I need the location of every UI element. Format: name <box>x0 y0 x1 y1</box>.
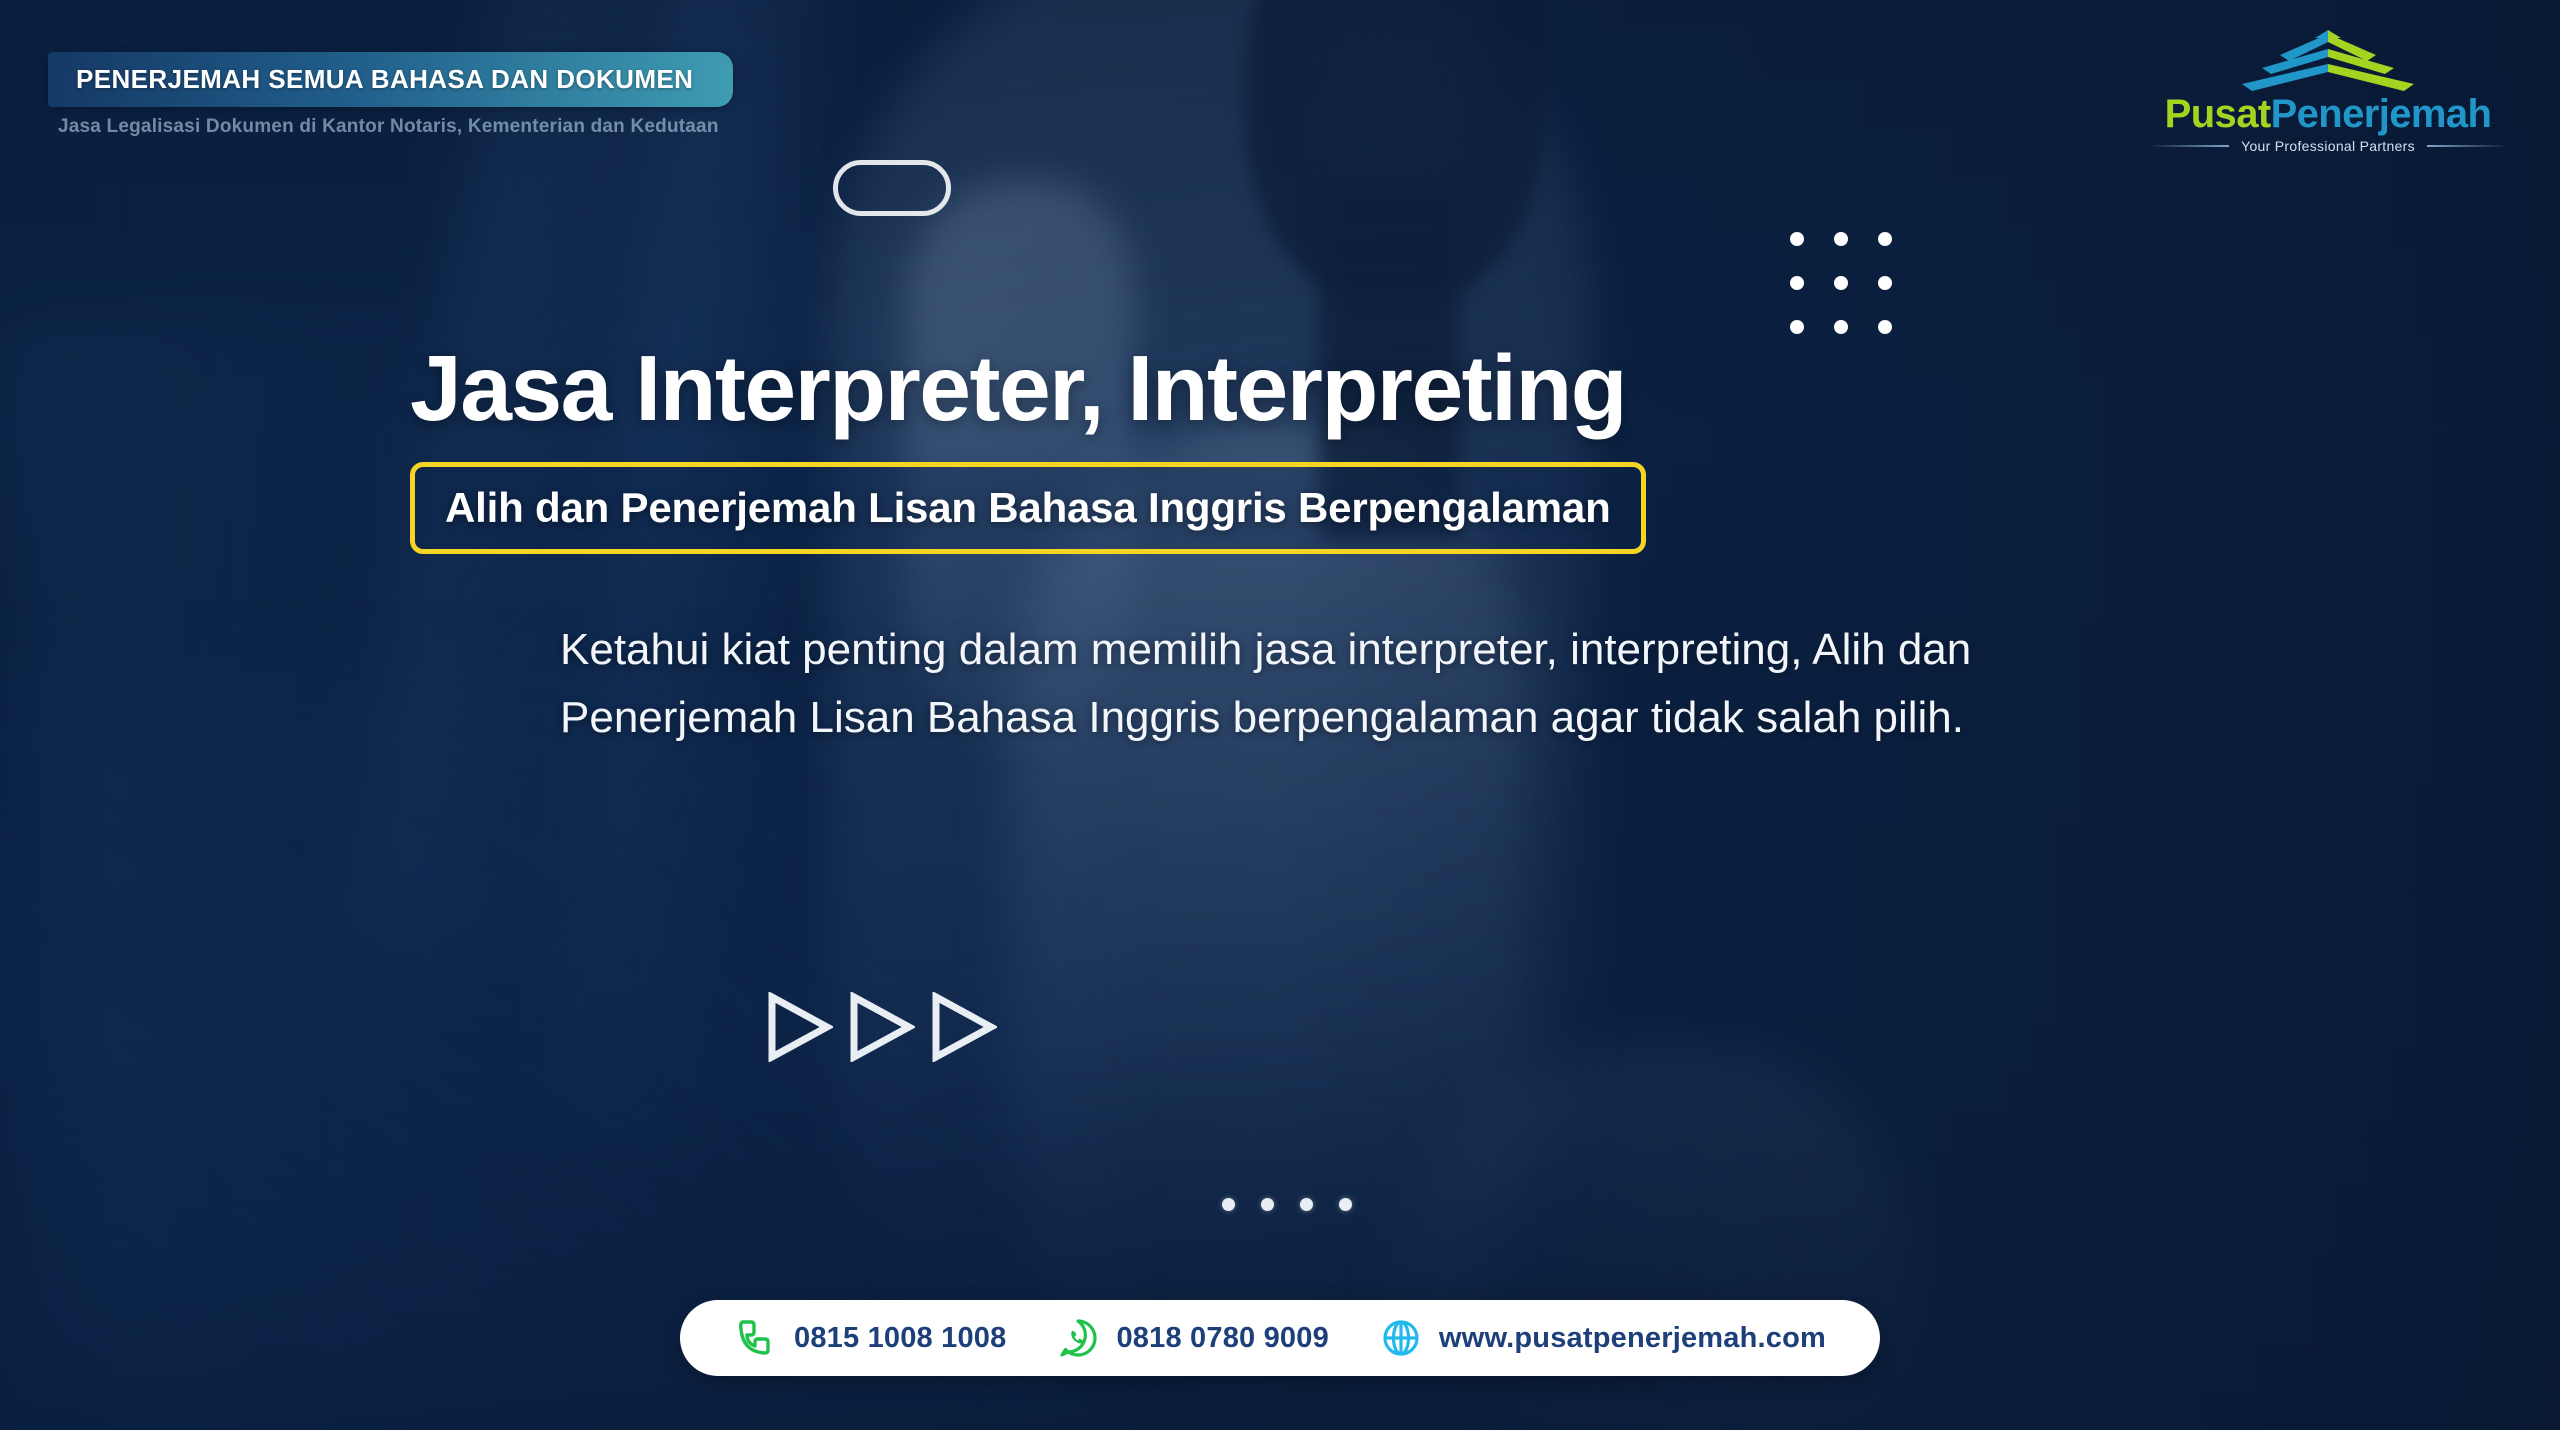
play-triangle-icon <box>765 992 833 1062</box>
globe-icon <box>1379 1316 1423 1360</box>
brand-logo[interactable]: PusatPenerjemah Your Professional Partne… <box>2148 28 2508 154</box>
grid-dot <box>1878 232 1892 246</box>
contact-website[interactable]: www.pusatpenerjemah.com <box>1379 1316 1826 1360</box>
grid-dot <box>1790 320 1804 334</box>
contact-whatsapp[interactable]: 0818 0780 9009 <box>1056 1316 1328 1360</box>
promo-banner: PENERJEMAH SEMUA BAHASA DAN DOKUMEN Jasa… <box>0 0 2560 1430</box>
mini-dot <box>1261 1198 1274 1211</box>
decorative-pill-outline <box>833 160 951 216</box>
contact-bar: 0815 1008 1008 0818 0780 9009 www.pusatp… <box>680 1300 1880 1376</box>
grid-dot <box>1834 320 1848 334</box>
grid-dot <box>1834 276 1848 290</box>
grid-dot <box>1790 232 1804 246</box>
logo-rule-left <box>2148 145 2229 147</box>
play-triangle-icon <box>847 992 915 1062</box>
phone-number: 0815 1008 1008 <box>794 1322 1006 1355</box>
logo-tagline-row: Your Professional Partners <box>2148 138 2508 154</box>
decorative-dot-grid <box>1790 232 1892 334</box>
mini-dot <box>1222 1198 1235 1211</box>
mini-dot <box>1339 1198 1352 1211</box>
whatsapp-number: 0818 0780 9009 <box>1116 1322 1328 1355</box>
phone-icon <box>734 1316 778 1360</box>
decorative-mini-dots <box>1222 1198 1352 1211</box>
logo-word-pusat: Pusat <box>2165 92 2271 136</box>
mini-dot <box>1300 1198 1313 1211</box>
grid-dot <box>1834 232 1848 246</box>
main-content: Jasa Interpreter, Interpreting Alih dan … <box>410 340 2150 752</box>
logo-word-penerjemah: Penerjemah <box>2271 92 2492 136</box>
page-title: Jasa Interpreter, Interpreting <box>410 340 2150 438</box>
header-subtext: Jasa Legalisasi Dokumen di Kantor Notari… <box>58 116 733 138</box>
logo-wordmark: PusatPenerjemah <box>2148 94 2508 134</box>
logo-tagline: Your Professional Partners <box>2241 138 2415 154</box>
body-paragraph: Ketahui kiat penting dalam memilih jasa … <box>560 616 2120 752</box>
grid-dot <box>1878 320 1892 334</box>
play-triangle-icon <box>929 992 997 1062</box>
header-badge-label: PENERJEMAH SEMUA BAHASA DAN DOKUMEN <box>76 64 693 95</box>
header-badge: PENERJEMAH SEMUA BAHASA DAN DOKUMEN <box>48 52 733 107</box>
subtitle-callout-box: Alih dan Penerjemah Lisan Bahasa Inggris… <box>410 462 1646 554</box>
whatsapp-icon <box>1056 1316 1100 1360</box>
grid-dot <box>1878 276 1892 290</box>
website-url: www.pusatpenerjemah.com <box>1439 1322 1826 1355</box>
logo-rule-right <box>2427 145 2508 147</box>
grid-dot <box>1790 276 1804 290</box>
header-badge-group: PENERJEMAH SEMUA BAHASA DAN DOKUMEN Jasa… <box>48 52 733 138</box>
decorative-arrow-group <box>765 992 997 1062</box>
subtitle-label: Alih dan Penerjemah Lisan Bahasa Inggris… <box>445 484 1611 532</box>
building-roof-logo-icon <box>2198 28 2458 96</box>
contact-phone[interactable]: 0815 1008 1008 <box>734 1316 1006 1360</box>
